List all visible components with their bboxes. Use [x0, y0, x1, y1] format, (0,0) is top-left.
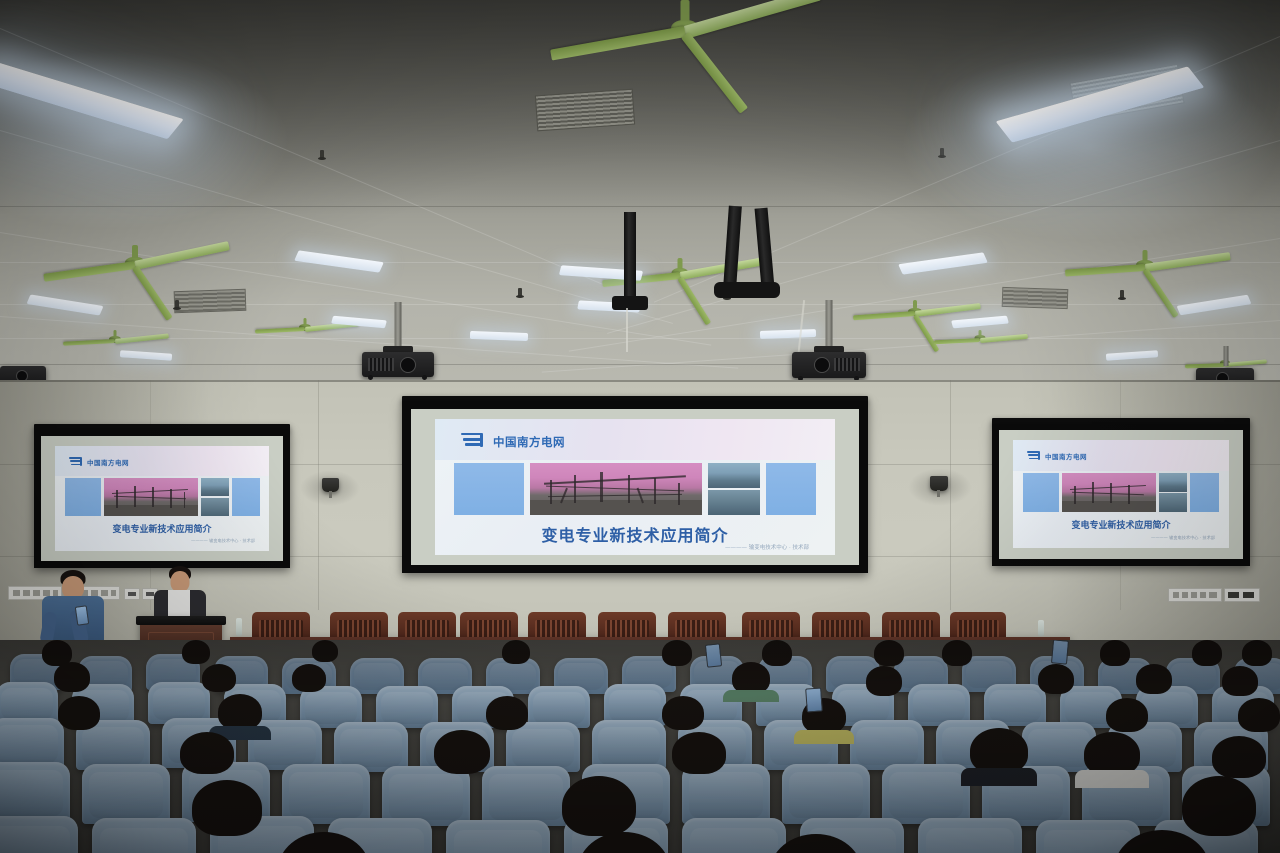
attendee — [940, 640, 974, 670]
attendee — [200, 664, 238, 696]
slide-panel-left-block — [65, 478, 101, 516]
head-table-chair — [668, 612, 726, 640]
attendee — [190, 780, 264, 842]
right-screen-surface: 中国南方电网 变电专业新技术应用简介 ———— 输变电技术中心 · 技术部 — [999, 430, 1243, 559]
attendee — [1036, 664, 1076, 698]
ceiling-fan — [40, 245, 230, 293]
auditorium-seat[interactable] — [918, 818, 1022, 853]
auditorium-seat[interactable] — [0, 816, 78, 853]
head-table-chair — [398, 612, 456, 640]
slide-panel-substation-photo — [530, 463, 702, 515]
smartphone-raised — [705, 643, 722, 667]
slide-panel-left-block — [454, 463, 524, 515]
logo-icon — [69, 457, 84, 466]
slide-subtitle: ———— 输变电技术中心 · 技术部 — [725, 543, 809, 551]
auditorium-seat[interactable] — [92, 818, 196, 853]
mount-cable — [626, 308, 628, 352]
auditorium-photo: 中国南方电网 变电专业新技术应用简介 ———— 输变电技术中心 · 技术部 — [0, 0, 1280, 853]
attendee — [660, 640, 694, 670]
ceiling-fan — [1060, 250, 1230, 294]
head-table-chair — [598, 612, 656, 640]
ceiling-vent — [174, 289, 247, 313]
attendee — [310, 640, 340, 666]
head-table-chair — [950, 612, 1006, 640]
attendee — [290, 664, 328, 696]
ceiling-light-fixture — [1176, 295, 1251, 316]
slide-panel-substation-photo — [104, 478, 198, 516]
slide-panel-substation-photo — [1062, 473, 1156, 512]
attendee — [660, 696, 706, 736]
ceiling-grid-line — [0, 364, 1280, 365]
logo-text: 中国南方电网 — [87, 457, 129, 467]
attendee — [56, 696, 102, 736]
head-table-chair — [330, 612, 388, 640]
auditorium-seat[interactable] — [850, 720, 924, 770]
slide-panel-right-block — [766, 463, 816, 515]
attendee — [670, 732, 728, 780]
attendee — [500, 640, 532, 668]
attendee — [216, 694, 264, 736]
attendee — [52, 662, 92, 696]
attendee — [178, 732, 236, 780]
slide-subtitle: ———— 输变电技术中心 · 技术部 — [191, 538, 255, 544]
logo-icon — [1027, 451, 1042, 460]
slide-panel-right-block — [232, 478, 260, 516]
ceiling — [0, 0, 1280, 400]
slide-subtitle: ———— 输变电技术中心 · 技术部 — [1151, 535, 1215, 541]
slide-panel-worker-photo — [708, 490, 760, 515]
logo-text: 中国南方电网 — [493, 434, 565, 450]
attendee — [276, 832, 372, 853]
ceiling-vent — [1002, 287, 1069, 309]
auditorium-seat[interactable] — [446, 820, 550, 853]
attendee — [576, 832, 672, 853]
ceiling-light-fixture — [294, 250, 384, 272]
ceiling-fan — [555, 0, 815, 70]
auditorium-seat[interactable] — [0, 718, 64, 768]
slide-panel-worker-photo — [201, 498, 229, 516]
slide-panel-right-block — [1190, 473, 1219, 512]
podium-laptop — [136, 616, 226, 625]
water-bottle — [236, 618, 242, 636]
attendee — [1190, 640, 1224, 670]
slide-title: 变电专业新技术应用简介 — [55, 522, 269, 535]
sprinkler-head — [320, 150, 324, 159]
attendee — [1082, 732, 1142, 782]
attendee — [432, 730, 492, 780]
auditorium-seat[interactable] — [282, 764, 370, 824]
logo-icon — [461, 433, 487, 447]
head-table-chair — [528, 612, 586, 640]
slide-panel-worker-photo — [1159, 493, 1187, 512]
ceiling-mount-truss — [624, 212, 636, 308]
ceiling-mount-plate — [612, 296, 648, 310]
smartphone-raised — [805, 687, 823, 712]
water-bottle — [1038, 620, 1044, 636]
auditorium-seat[interactable] — [592, 720, 666, 770]
wall-outlet[interactable] — [124, 588, 140, 600]
logo-text: 中国南方电网 — [1045, 451, 1087, 461]
ceiling-light-fixture — [898, 252, 988, 274]
sprinkler-head — [518, 288, 522, 297]
slide-panel-worker-photo — [708, 463, 760, 488]
ceiling-fan — [850, 300, 980, 334]
head-table-chair — [742, 612, 800, 640]
ceiling-vent — [535, 89, 635, 132]
ceiling-grid-line — [0, 338, 1280, 339]
attendee — [730, 662, 772, 698]
ceiling-light-fixture — [470, 331, 528, 341]
ceiling-projector — [790, 300, 868, 380]
left-slide: 中国南方电网 变电专业新技术应用简介 ———— 输变电技术中心 · 技术部 — [55, 446, 269, 551]
slide-panel-left-block — [1023, 473, 1059, 512]
attendee — [1112, 830, 1212, 853]
head-table-chair — [882, 612, 940, 640]
wall-switch-plate[interactable] — [1224, 588, 1260, 602]
head-table-chair — [460, 612, 518, 640]
left-screen-surface: 中国南方电网 变电专业新技术应用简介 ———— 输变电技术中心 · 技术部 — [41, 436, 283, 561]
slide-panel-worker-photo — [1159, 473, 1187, 492]
attendee — [768, 834, 864, 853]
smartphone — [75, 605, 90, 625]
sprinkler-head — [940, 148, 944, 157]
right-projection-screen[interactable]: 中国南方电网 变电专业新技术应用简介 ———— 输变电技术中心 · 技术部 — [992, 424, 1250, 566]
wall-switch-plate[interactable] — [1168, 588, 1222, 602]
ceiling-light-fixture — [26, 294, 103, 315]
attendee — [968, 728, 1030, 780]
wall-speaker — [930, 476, 948, 491]
head-table-chair — [812, 612, 870, 640]
ceiling-projector — [360, 302, 436, 380]
wall-speaker — [322, 478, 339, 492]
ceiling-light-fixture — [1106, 350, 1158, 361]
center-projection-screen[interactable]: 中国南方电网 — [402, 401, 868, 573]
attendee — [1236, 698, 1280, 738]
smartphone-raised — [1051, 640, 1069, 665]
left-projection-screen[interactable]: 中国南方电网 变电专业新技术应用简介 ———— 输变电技术中心 · 技术部 — [34, 430, 290, 568]
auditorium-seat[interactable] — [882, 764, 970, 824]
center-slide: 中国南方电网 — [435, 419, 835, 555]
auditorium-seat[interactable] — [482, 766, 570, 826]
slide-title: 变电专业新技术应用简介 — [1013, 518, 1229, 531]
attendee — [1098, 640, 1132, 670]
slide-panel-worker-photo — [201, 478, 229, 496]
ceiling-grid-line — [0, 206, 1280, 207]
sprinkler-head — [1120, 290, 1124, 299]
attendee — [1134, 664, 1174, 698]
attendee — [1220, 666, 1260, 700]
ceiling-mount-plate — [714, 282, 780, 298]
center-screen-surface: 中国南方电网 — [411, 409, 859, 565]
auditorium-seat[interactable] — [0, 762, 70, 822]
ceiling-fan — [930, 330, 1030, 356]
audience-seating — [0, 640, 1280, 853]
right-slide: 中国南方电网 变电专业新技术应用简介 ———— 输变电技术中心 · 技术部 — [1013, 440, 1229, 548]
auditorium-seat[interactable] — [782, 764, 870, 824]
head-table-chair — [252, 612, 310, 640]
attendee — [864, 666, 904, 700]
sprinkler-head — [175, 300, 179, 309]
auditorium-seat[interactable] — [82, 764, 170, 824]
